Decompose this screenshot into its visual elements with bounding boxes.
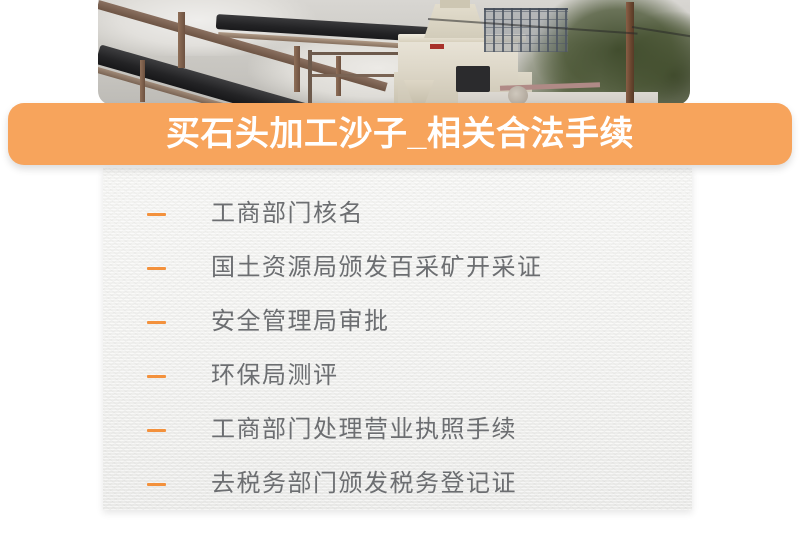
dash-bullet-icon [147,213,166,216]
steel-grating-railing [484,8,568,52]
list-item[interactable]: 安全管理局审批 [103,295,692,349]
list-item-label: 安全管理局审批 [211,310,390,334]
crusher-outlet [456,66,490,92]
list-item-label: 工商部门核名 [211,202,364,226]
dash-bullet-icon [147,267,166,270]
support-post-2 [294,46,300,92]
crusher-label-plate [430,44,444,49]
list-item[interactable]: 国土资源局颁发百采矿开采证 [103,241,692,295]
support-post-1 [178,12,185,68]
platform-column [308,50,312,105]
list-item-label: 环保局测评 [211,364,339,388]
platform-rail-top [312,52,410,55]
photo-image [98,0,690,105]
list-item[interactable]: 工商部门核名 [103,187,692,241]
power-wire-2 [632,26,690,37]
title-banner: 买石头加工沙子_相关合法手续 [8,103,792,165]
header-photo [98,0,690,105]
page-title: 买石头加工沙子_相关合法手续 [166,117,634,151]
dash-bullet-icon [147,321,166,324]
dash-bullet-icon [147,375,166,378]
procedure-list: 工商部门核名 国土资源局颁发百采矿开采证 安全管理局审批 环保局测评 工商部门处… [103,187,692,511]
crusher-cap [440,0,470,8]
list-item[interactable]: 去税务部门颁发税务登记证 [103,457,692,511]
platform-rail-bottom [312,74,404,77]
support-post-4 [140,60,145,102]
dash-bullet-icon [147,429,166,432]
list-item-label: 国土资源局颁发百采矿开采证 [211,256,543,280]
list-item-label: 去税务部门颁发税务登记证 [211,472,517,496]
utility-pole [626,2,634,105]
page-root: 工商部门核名 国土资源局颁发百采矿开采证 安全管理局审批 环保局测评 工商部门处… [0,0,800,544]
dash-bullet-icon [147,483,166,486]
list-item-label: 工商部门处理营业执照手续 [211,418,517,442]
list-item[interactable]: 工商部门处理营业执照手续 [103,403,692,457]
content-panel: 工商部门核名 国土资源局颁发百采矿开采证 安全管理局审批 环保局测评 工商部门处… [103,168,692,510]
list-item[interactable]: 环保局测评 [103,349,692,403]
